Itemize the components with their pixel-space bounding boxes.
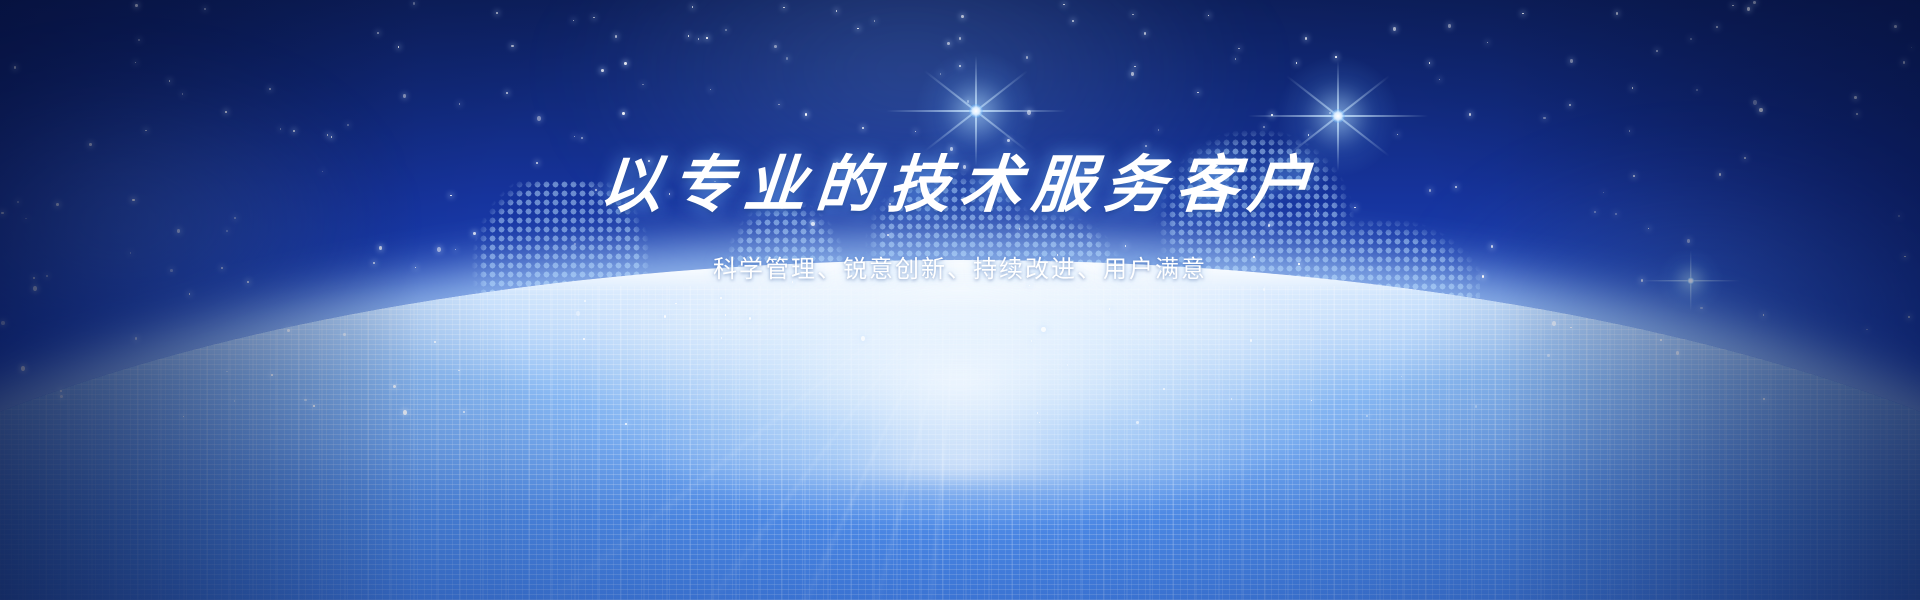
lens-flare-star-left (975, 110, 976, 111)
flare-core (1331, 109, 1345, 123)
star (961, 15, 964, 18)
star (706, 37, 708, 39)
star (698, 38, 700, 40)
star (874, 20, 876, 22)
star (1131, 72, 1134, 75)
star (967, 100, 969, 103)
star (1335, 56, 1337, 58)
star (622, 112, 625, 115)
star (1629, 130, 1631, 132)
star (1238, 48, 1240, 50)
star (1397, 134, 1399, 136)
star (940, 73, 942, 75)
star (1027, 110, 1031, 115)
star (959, 37, 961, 40)
star (692, 6, 694, 8)
star (377, 32, 379, 34)
star (459, 103, 461, 105)
star (331, 136, 333, 138)
star (1144, 32, 1146, 35)
star (1543, 117, 1545, 120)
star (1690, 38, 1692, 41)
flare-ray-horizontal (886, 110, 1066, 112)
star (1487, 42, 1489, 44)
star (1854, 96, 1856, 99)
star (601, 69, 604, 72)
star (593, 17, 595, 19)
star (615, 35, 617, 38)
flare-ray-diagonal (924, 70, 1027, 151)
horizon-center-glow (580, 260, 1340, 530)
star (1911, 47, 1913, 49)
earth-horizon (0, 260, 1920, 600)
star (624, 62, 627, 65)
flare-ray-diagonal (1286, 75, 1389, 156)
star (182, 93, 184, 95)
star (862, 127, 864, 130)
hero-subline: 科学管理、锐意创新、持续改进、用户满意 (0, 249, 1920, 284)
star (1747, 7, 1750, 10)
star (710, 89, 712, 91)
star (574, 136, 576, 138)
star (581, 137, 583, 140)
lens-flare-star-right (1337, 115, 1338, 116)
star (1007, 139, 1010, 142)
star (403, 94, 406, 97)
star (1072, 20, 1074, 23)
star (725, 29, 727, 32)
star (857, 28, 859, 30)
star (1429, 62, 1431, 64)
star (506, 92, 508, 94)
star (1329, 112, 1331, 114)
star (1696, 89, 1698, 91)
star (145, 130, 147, 132)
star (1063, 4, 1065, 6)
star (327, 134, 329, 136)
star (1158, 129, 1160, 131)
star (1753, 1, 1756, 4)
star (786, 57, 788, 60)
star (1208, 15, 1210, 17)
star (573, 20, 575, 22)
star (836, 10, 838, 12)
star (1569, 104, 1571, 107)
star (225, 111, 227, 113)
star (204, 8, 206, 11)
flare-ray-horizontal (1248, 115, 1428, 117)
star (1308, 134, 1310, 136)
star (398, 46, 400, 48)
star (537, 116, 541, 121)
star (1570, 59, 1573, 62)
star (1132, 14, 1134, 16)
star (269, 88, 271, 91)
flare-core (969, 104, 983, 118)
hero-banner: 以专业的技术服务客户 科学管理、锐意创新、持续改进、用户满意 (0, 0, 1920, 600)
star (169, 80, 171, 82)
star (1469, 113, 1471, 116)
star (1235, 58, 1237, 60)
star (347, 124, 349, 126)
star (135, 4, 138, 7)
star (1894, 25, 1897, 28)
star (1732, 5, 1734, 7)
hero-headline: 以专业的技术服务客户 (0, 150, 1920, 219)
star (915, 131, 917, 133)
star (89, 143, 92, 146)
star (135, 62, 137, 64)
star (413, 2, 415, 5)
star (1296, 62, 1298, 64)
star (138, 39, 140, 42)
star (1759, 108, 1763, 113)
star (1753, 100, 1757, 105)
star (1903, 61, 1905, 64)
star (1522, 13, 1524, 15)
star (778, 104, 780, 106)
star (805, 113, 807, 116)
star (1026, 56, 1028, 59)
hero-content: 以专业的技术服务客户 科学管理、锐意创新、持续改进、用户满意 (0, 150, 1920, 284)
star (1448, 24, 1451, 27)
star (1439, 79, 1441, 81)
star (1393, 27, 1396, 30)
star (783, 7, 785, 9)
star (947, 42, 950, 45)
star (1271, 114, 1273, 116)
star (1656, 50, 1658, 53)
star (642, 84, 644, 86)
star (1305, 37, 1307, 40)
flare-ray-diagonal (924, 70, 1027, 151)
star (1197, 92, 1199, 94)
flare-ray-diagonal (1286, 75, 1389, 156)
star (1856, 113, 1858, 115)
star (1134, 66, 1136, 68)
star (511, 45, 513, 48)
star (959, 65, 961, 67)
star (14, 66, 16, 69)
star (496, 12, 498, 14)
star (1716, 26, 1718, 28)
star (774, 45, 777, 48)
star (1616, 12, 1618, 15)
star (1263, 126, 1265, 129)
star (1632, 87, 1634, 89)
star (280, 128, 282, 130)
star (688, 35, 690, 37)
star (293, 130, 295, 133)
star (1145, 145, 1147, 147)
